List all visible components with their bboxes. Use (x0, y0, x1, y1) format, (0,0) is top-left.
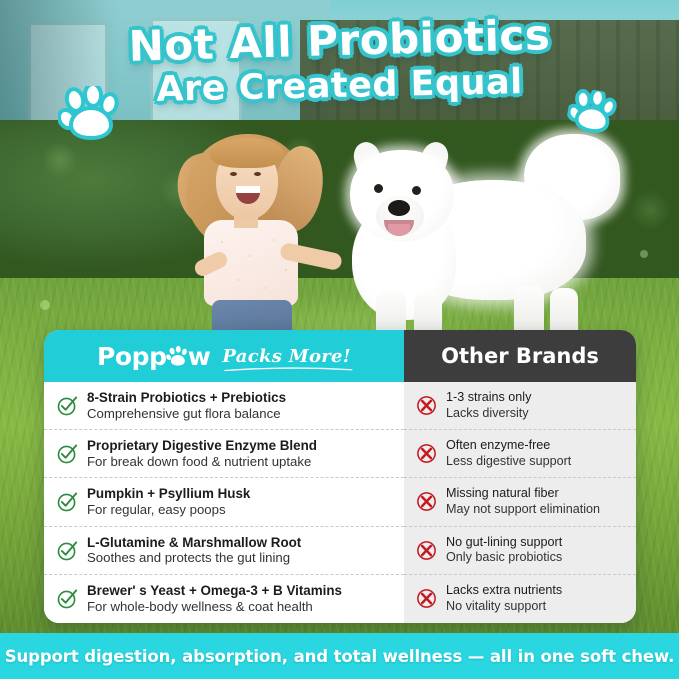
table-cell: Pumpkin + Psyllium Husk For regular, eas… (87, 486, 250, 517)
table-row: No gut-lining support Only basic probiot… (404, 527, 636, 575)
row-title: 1-3 strains only (446, 390, 531, 406)
row-subtitle: For break down food & nutrient uptake (87, 454, 317, 470)
cross-circle-icon (415, 587, 438, 610)
paw-print-icon (58, 86, 120, 142)
row-subtitle: Soothes and protects the gut lining (87, 550, 301, 566)
cross-circle-icon (415, 539, 438, 562)
table-cell: Often enzyme-free Less digestive support (446, 438, 571, 469)
row-subtitle: Lacks diversity (446, 406, 531, 422)
girl-eye (230, 172, 237, 176)
row-title: Often enzyme-free (446, 438, 571, 454)
bokeh-dot (640, 250, 648, 258)
comparison-table-body: 8-Strain Probiotics + Prebiotics Compreh… (44, 382, 636, 623)
table-row: L-Glutamine & Marshmallow Root Soothes a… (44, 527, 404, 575)
table-row: 1-3 strains only Lacks diversity (404, 382, 636, 430)
row-subtitle: Comprehensive gut flora balance (87, 406, 286, 422)
table-row: Pumpkin + Psyllium Husk For regular, eas… (44, 478, 404, 526)
girl-fringe (210, 138, 284, 168)
cross-circle-icon (415, 442, 438, 465)
brand-column-header: Popp w (44, 330, 404, 382)
table-cell: L-Glutamine & Marshmallow Root Soothes a… (87, 535, 301, 566)
check-circle-icon (56, 539, 79, 562)
check-circle-icon (56, 587, 79, 610)
table-cell: 8-Strain Probiotics + Prebiotics Compreh… (87, 390, 286, 421)
row-title: Brewer' s Yeast + Omega-3 + B Vitamins (87, 583, 342, 599)
brand-tagline: Packs More! (222, 346, 351, 367)
table-cell: Proprietary Digestive Enzyme Blend For b… (87, 438, 317, 469)
check-circle-icon (56, 394, 79, 417)
other-brands-column: 1-3 strains only Lacks diversity Often e… (404, 382, 636, 623)
brand-column: 8-Strain Probiotics + Prebiotics Compreh… (44, 382, 404, 623)
infographic-root: Not All Probiotics Are Created Equal (0, 0, 679, 679)
row-title: Pumpkin + Psyllium Husk (87, 486, 250, 502)
row-subtitle: Only basic probiotics (446, 550, 562, 566)
table-row: Lacks extra nutrients No vitality suppor… (404, 575, 636, 623)
brand-logo-text-part1: Popp (97, 342, 167, 371)
other-brands-label: Other Brands (441, 344, 599, 368)
row-subtitle: Less digestive support (446, 454, 571, 470)
row-subtitle: For whole-body wellness & coat health (87, 599, 342, 615)
brand-logo: Popp w (97, 342, 210, 371)
samoyed-dog (318, 140, 618, 345)
bottom-banner-text: Support digestion, absorption, and total… (5, 647, 675, 666)
row-subtitle: May not support elimination (446, 502, 600, 518)
comparison-table: Popp w (44, 330, 636, 623)
dog-eye (412, 186, 421, 195)
girl-figure (178, 128, 338, 338)
dog-nose (388, 200, 410, 216)
table-cell: No gut-lining support Only basic probiot… (446, 535, 562, 566)
table-cell: Missing natural fiber May not support el… (446, 486, 600, 517)
table-row: Proprietary Digestive Enzyme Blend For b… (44, 430, 404, 478)
dog-eye (374, 184, 383, 193)
bottom-banner: Support digestion, absorption, and total… (0, 633, 679, 679)
row-title: 8-Strain Probiotics + Prebiotics (87, 390, 286, 406)
comparison-table-header: Popp w (44, 330, 636, 382)
check-circle-icon (56, 442, 79, 465)
cross-circle-icon (415, 394, 438, 417)
table-cell: Lacks extra nutrients No vitality suppor… (446, 583, 562, 614)
row-title: Proprietary Digestive Enzyme Blend (87, 438, 317, 454)
row-title: Missing natural fiber (446, 486, 600, 502)
brand-logo-text-part2: w (188, 342, 211, 371)
row-subtitle: For regular, easy poops (87, 502, 250, 518)
tagline-underline-swoosh (224, 366, 353, 372)
check-circle-icon (56, 490, 79, 513)
paw-accent-icon (166, 345, 189, 368)
girl-eye (254, 172, 261, 176)
table-row: Missing natural fiber May not support el… (404, 478, 636, 526)
cross-circle-icon (415, 490, 438, 513)
bokeh-dot (40, 300, 50, 310)
table-cell: 1-3 strains only Lacks diversity (446, 390, 531, 421)
row-title: L-Glutamine & Marshmallow Root (87, 535, 301, 551)
table-row: Brewer' s Yeast + Omega-3 + B Vitamins F… (44, 575, 404, 623)
row-title: No gut-lining support (446, 535, 562, 551)
other-brands-column-header: Other Brands (404, 330, 636, 382)
table-row: Often enzyme-free Less digestive support (404, 430, 636, 478)
row-title: Lacks extra nutrients (446, 583, 562, 599)
row-subtitle: No vitality support (446, 599, 562, 615)
table-cell: Brewer' s Yeast + Omega-3 + B Vitamins F… (87, 583, 342, 614)
paw-print-icon (565, 86, 620, 138)
brand-tagline-wrap: Packs More! (222, 346, 351, 367)
table-row: 8-Strain Probiotics + Prebiotics Compreh… (44, 382, 404, 430)
